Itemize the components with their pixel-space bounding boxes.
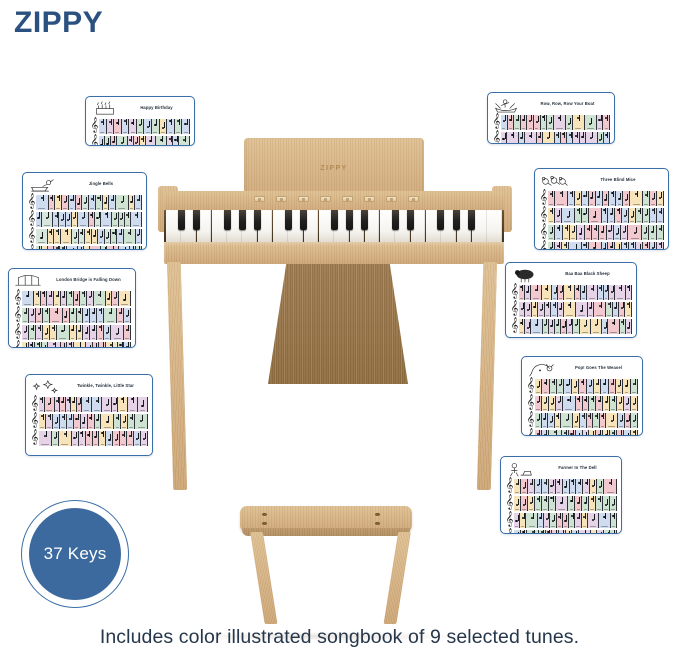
black-key[interactable]	[361, 210, 368, 230]
note-cell	[643, 242, 650, 250]
note-cell	[67, 342, 74, 348]
control-button[interactable]	[276, 196, 287, 202]
note-cell	[603, 430, 610, 436]
note-cell	[650, 191, 657, 206]
stand-brand-label: ZIPPY	[244, 165, 424, 172]
note-cell	[589, 242, 602, 250]
note-cell	[569, 242, 582, 250]
note-cell	[160, 119, 168, 134]
piano-leg-right	[477, 262, 497, 490]
note-cell	[555, 242, 562, 250]
note-cell	[616, 191, 623, 206]
note-cell	[630, 191, 643, 206]
note-cell	[62, 195, 69, 210]
control-button[interactable]	[408, 196, 419, 202]
note-cell	[550, 379, 557, 394]
note-cell	[99, 342, 106, 348]
note-cell	[566, 115, 573, 130]
note-cell	[609, 379, 616, 394]
note-cell	[583, 396, 590, 411]
note-cell	[564, 285, 575, 300]
note-cell	[508, 115, 515, 130]
note-cell	[616, 379, 623, 394]
stave-group: 𝄞𝄞𝄞𝄞	[13, 291, 131, 348]
note-cell	[82, 397, 92, 412]
note-cell	[583, 430, 590, 436]
black-key[interactable]	[468, 210, 475, 230]
black-key[interactable]	[239, 210, 246, 230]
stave: 𝄞	[539, 225, 664, 240]
note-cell	[39, 414, 46, 429]
note-cell	[555, 191, 568, 206]
note-cell	[596, 496, 603, 511]
note-cell	[575, 496, 582, 511]
stave-bars	[514, 513, 617, 528]
song-title: Twinkle, Twinkle, Little Star	[63, 378, 148, 390]
note-cell	[36, 229, 48, 244]
bridge-icon	[13, 272, 43, 289]
stave: 𝄞	[510, 302, 632, 317]
stave: 𝄞	[30, 431, 148, 446]
stave: 𝄞	[30, 397, 148, 412]
black-key[interactable]	[437, 210, 444, 230]
note-cell	[609, 191, 616, 206]
card-header: London Bridge is Falling Down	[13, 272, 131, 290]
stave: 𝄞	[27, 246, 142, 250]
song-title: Happy Birthday	[123, 100, 190, 112]
note-cell	[89, 195, 96, 210]
note-cell	[112, 291, 119, 306]
note-cell	[564, 302, 576, 317]
note-cell	[576, 302, 588, 317]
note-cell	[621, 225, 628, 240]
note-cell	[548, 242, 555, 250]
card-header: Farmer In The Dell	[505, 460, 617, 478]
note-cell	[59, 431, 72, 446]
note-cell	[535, 396, 542, 411]
note-cell	[67, 414, 74, 429]
note-cell	[113, 431, 120, 446]
note-cell	[535, 479, 542, 494]
black-key[interactable]	[331, 210, 338, 230]
note-cell	[106, 342, 118, 348]
note-cell	[57, 325, 70, 340]
note-cell	[575, 191, 582, 206]
note-cell	[611, 513, 617, 528]
treble-clef-icon: 𝄞	[27, 195, 36, 210]
note-cell	[124, 342, 131, 348]
stave-bars	[548, 208, 664, 223]
note-cell	[88, 414, 95, 429]
note-cell	[527, 530, 539, 534]
note-cell	[46, 414, 53, 429]
sleigh-icon	[27, 176, 57, 193]
control-button[interactable]	[298, 196, 309, 202]
note-cell	[570, 225, 577, 240]
stave-bars	[519, 319, 632, 334]
note-cell	[74, 291, 81, 306]
control-button[interactable]	[254, 196, 265, 202]
note-cell	[70, 308, 77, 323]
note-cell	[102, 397, 112, 412]
black-key[interactable]	[285, 210, 292, 230]
note-cell	[526, 513, 537, 528]
note-cell	[514, 115, 521, 130]
note-cell	[135, 195, 142, 210]
note-cell	[564, 379, 571, 394]
song-title: Three Blind Mice	[572, 172, 664, 184]
control-button[interactable]	[342, 196, 353, 202]
note-cell	[586, 132, 598, 144]
stave: 𝄞	[27, 229, 142, 244]
stave-bars	[39, 397, 148, 412]
note-cell	[63, 308, 70, 323]
black-key[interactable]	[254, 210, 261, 230]
note-cell	[94, 291, 106, 306]
treble-clef-icon: 𝄞	[90, 119, 99, 134]
note-cell	[596, 396, 603, 411]
stave-bars	[36, 195, 142, 210]
song-title: Farmer In The Dell	[538, 460, 617, 472]
note-cell	[92, 397, 102, 412]
treble-clef-icon: 𝄞	[13, 325, 22, 340]
note-cell	[562, 430, 569, 436]
note-cell	[601, 379, 608, 394]
note-cell	[86, 342, 93, 348]
note-cell	[548, 225, 555, 240]
note-cell	[629, 242, 636, 250]
note-cell	[625, 302, 631, 317]
note-cell	[90, 308, 97, 323]
note-cell	[628, 225, 642, 240]
note-cell	[610, 530, 617, 534]
stave-bars	[535, 430, 638, 436]
stave: 𝄞	[539, 208, 664, 223]
note-cell	[101, 212, 112, 227]
note-cell	[103, 195, 110, 210]
note-cell	[104, 325, 111, 340]
note-cell	[83, 325, 90, 340]
note-cell	[124, 229, 136, 244]
note-cell	[122, 119, 130, 134]
note-cell	[556, 496, 569, 511]
note-cell	[657, 242, 664, 250]
note-cell	[501, 115, 508, 130]
note-cell	[541, 115, 548, 130]
piano-illustration: ZIPPY	[150, 138, 520, 518]
stave: 𝄞	[526, 396, 638, 411]
note-cell	[35, 342, 42, 348]
note-cell	[39, 431, 52, 446]
note-cell	[152, 119, 160, 134]
note-cell	[587, 379, 594, 394]
note-cell	[95, 414, 102, 429]
stave-group: 𝄞𝄞𝄞𝄞	[505, 479, 617, 534]
note-cell	[117, 136, 128, 146]
note-cell	[642, 225, 649, 240]
note-cell	[626, 319, 632, 334]
stave: 𝄞	[505, 513, 617, 528]
note-cell	[594, 302, 606, 317]
card-header: Jingle Bells	[27, 176, 142, 194]
song-card: Row, Row, Row Your Boat𝄞𝄞	[487, 92, 615, 144]
note-cell	[144, 119, 152, 134]
note-cell	[589, 496, 596, 511]
control-button[interactable]	[320, 196, 331, 202]
note-cell	[22, 291, 34, 306]
note-cell	[589, 208, 602, 223]
note-cell	[54, 291, 61, 306]
stave-bars	[22, 308, 131, 323]
note-cell	[604, 132, 610, 144]
control-button[interactable]	[364, 196, 375, 202]
note-cell	[49, 195, 56, 210]
note-cell	[626, 285, 632, 300]
note-cell	[610, 496, 617, 511]
treble-clef-icon: 𝄞	[526, 413, 535, 428]
note-cell	[127, 431, 134, 446]
note-cell	[182, 119, 190, 134]
treble-clef-icon: 𝄞	[13, 291, 22, 306]
stave: 𝄞	[505, 496, 617, 511]
note-cell	[587, 285, 598, 300]
key-count-label: 37 Keys	[29, 508, 121, 600]
note-cell	[137, 119, 145, 134]
note-cell	[60, 414, 67, 429]
note-cell	[42, 342, 49, 348]
note-cell	[624, 396, 631, 411]
stave-bars	[535, 379, 638, 394]
black-key[interactable]	[392, 210, 399, 230]
note-cell	[129, 119, 137, 134]
stave: 𝄞	[90, 119, 190, 134]
note-cell	[576, 396, 583, 411]
note-cell	[48, 342, 60, 348]
bench-screw-hole	[375, 513, 380, 516]
treble-clef-icon: 𝄞	[526, 379, 535, 394]
note-cell	[556, 479, 563, 494]
note-cell	[29, 308, 36, 323]
note-cell	[610, 396, 617, 411]
note-cell	[576, 430, 583, 436]
note-cell	[608, 242, 615, 250]
note-cell	[624, 430, 631, 436]
song-card: Baa Baa Black Sheep𝄞𝄞𝄞	[505, 262, 637, 338]
note-cell	[52, 431, 59, 446]
note-cell	[83, 308, 90, 323]
note-cell	[128, 414, 135, 429]
note-cell	[106, 291, 113, 306]
note-cell	[562, 208, 575, 223]
note-cell	[128, 397, 138, 412]
treble-clef-icon: 𝄞	[492, 115, 501, 130]
note-cell	[29, 342, 36, 348]
note-cell	[602, 208, 609, 223]
black-key[interactable]	[193, 210, 200, 230]
note-cell	[582, 496, 589, 511]
note-cell	[116, 195, 129, 210]
note-cell	[67, 291, 74, 306]
treble-clef-icon: 𝄞	[30, 414, 39, 429]
note-cell	[596, 191, 603, 206]
note-cell	[631, 430, 638, 436]
note-cell	[594, 379, 601, 394]
note-cell	[547, 115, 554, 130]
treble-clef-icon: 𝄞	[30, 397, 39, 412]
note-cell	[96, 195, 103, 210]
treble-clef-icon: 𝄞	[30, 431, 39, 446]
note-cell	[608, 319, 619, 334]
card-header: Happy Birthday	[90, 100, 190, 118]
black-key[interactable]	[178, 210, 185, 230]
note-cell	[603, 115, 610, 130]
note-cell	[55, 195, 62, 210]
note-cell	[22, 308, 29, 323]
note-cell	[603, 496, 610, 511]
treble-clef-icon: 𝄞	[526, 396, 535, 411]
note-cell	[531, 285, 542, 300]
note-cell	[61, 291, 68, 306]
note-cell	[583, 479, 590, 494]
note-cell	[561, 413, 573, 428]
stave-bars	[39, 414, 148, 429]
song-title: Jingle Bells	[60, 176, 142, 188]
note-cell	[549, 479, 556, 494]
treble-clef-icon: 𝄞	[13, 308, 22, 323]
note-cell	[87, 291, 94, 306]
note-cell	[531, 319, 542, 334]
treble-clef-icon: 𝄞	[13, 342, 22, 348]
card-header: Baa Baa Black Sheep	[510, 266, 632, 284]
note-cell	[542, 430, 549, 436]
note-cell	[577, 225, 584, 240]
note-cell	[629, 208, 636, 223]
note-cell	[599, 513, 610, 528]
stave: 𝄞	[526, 430, 638, 436]
keybed	[164, 210, 504, 244]
song-card: Three Blind Mice𝄞𝄞𝄞𝄞	[534, 168, 669, 250]
note-cell	[61, 229, 73, 244]
stave-group: 𝄞𝄞𝄞𝄞	[526, 379, 638, 436]
note-cell	[588, 513, 599, 528]
note-cell	[22, 342, 29, 348]
note-cell	[528, 496, 535, 511]
stave-bars	[514, 530, 617, 534]
note-cell	[592, 225, 599, 240]
song-title: Baa Baa Black Sheep	[543, 266, 632, 278]
black-key[interactable]	[453, 210, 460, 230]
black-key[interactable]	[224, 210, 231, 230]
note-cell	[572, 379, 579, 394]
note-cell	[623, 191, 630, 206]
note-cell	[579, 379, 586, 394]
song-title: Row, Row, Row Your Boat	[525, 96, 610, 108]
stave-bars	[548, 191, 664, 206]
note-cell	[622, 208, 629, 223]
note-cell	[74, 414, 81, 429]
note-cell	[47, 291, 54, 306]
note-cell	[555, 225, 562, 240]
note-cell	[590, 479, 597, 494]
stave-group: 𝄞𝄞𝄞𝄞	[539, 191, 664, 250]
black-key[interactable]	[346, 210, 353, 230]
note-cell	[134, 431, 141, 446]
note-cell	[120, 431, 127, 446]
song-card: Pop! Goes The Weasel𝄞𝄞𝄞𝄞	[521, 356, 643, 436]
note-cell	[117, 308, 124, 323]
note-cell	[124, 325, 131, 340]
black-key[interactable]	[407, 210, 414, 230]
note-cell	[603, 191, 610, 206]
note-cell	[141, 431, 148, 446]
card-header: Three Blind Mice	[539, 172, 664, 190]
black-keys	[166, 210, 502, 244]
note-cell	[563, 396, 576, 411]
note-cell	[43, 308, 50, 323]
note-cell	[109, 195, 116, 210]
note-cell	[34, 291, 41, 306]
note-cell	[543, 132, 555, 144]
note-cell	[569, 430, 576, 436]
key-count-badge: 37 Keys	[21, 500, 129, 608]
control-button[interactable]	[386, 196, 397, 202]
note-cell	[36, 195, 49, 210]
note-cell	[582, 208, 589, 223]
note-cell	[36, 325, 43, 340]
note-cell	[643, 191, 650, 206]
brand-logo: ZIPPY	[14, 6, 103, 40]
note-cell	[589, 396, 596, 411]
note-cell	[636, 208, 643, 223]
bench-screw-hole	[262, 522, 267, 525]
black-key[interactable]	[300, 210, 307, 230]
note-cell	[527, 115, 534, 130]
card-header: Pop! Goes The Weasel	[526, 360, 638, 378]
note-cell	[563, 225, 570, 240]
note-cell	[86, 431, 93, 446]
note-cell	[111, 325, 124, 340]
card-header: Row, Row, Row Your Boat	[492, 96, 610, 114]
weasel-icon	[526, 360, 556, 377]
note-cell	[623, 379, 630, 394]
note-cell	[568, 496, 575, 511]
note-cell	[175, 119, 183, 134]
note-cell	[597, 479, 604, 494]
stave-bars	[535, 413, 638, 428]
note-cell	[549, 496, 556, 511]
note-cell	[43, 325, 50, 340]
note-cell	[657, 225, 664, 240]
bench-leg-right	[383, 532, 411, 624]
note-cell	[636, 242, 643, 250]
treble-clef-icon: 𝄞	[90, 136, 99, 146]
note-cell	[521, 496, 528, 511]
note-cell	[22, 325, 29, 340]
note-cell	[97, 325, 104, 340]
stave-bars	[36, 246, 142, 250]
treble-clef-icon: 𝄞	[539, 208, 548, 223]
note-cell	[557, 379, 564, 394]
card-header: Twinkle, Twinkle, Little Star	[30, 378, 148, 396]
product-image: ZIPPY Happy Birthday𝄞𝄞Jingle Bells𝄞𝄞𝄞𝄞Lo…	[0, 0, 679, 657]
note-cell	[535, 496, 542, 511]
note-cell	[93, 431, 100, 446]
note-cell	[643, 208, 650, 223]
note-cell	[615, 285, 626, 300]
treble-clef-icon: 𝄞	[27, 246, 36, 250]
stave-bars	[99, 119, 190, 134]
note-cell	[90, 246, 101, 250]
